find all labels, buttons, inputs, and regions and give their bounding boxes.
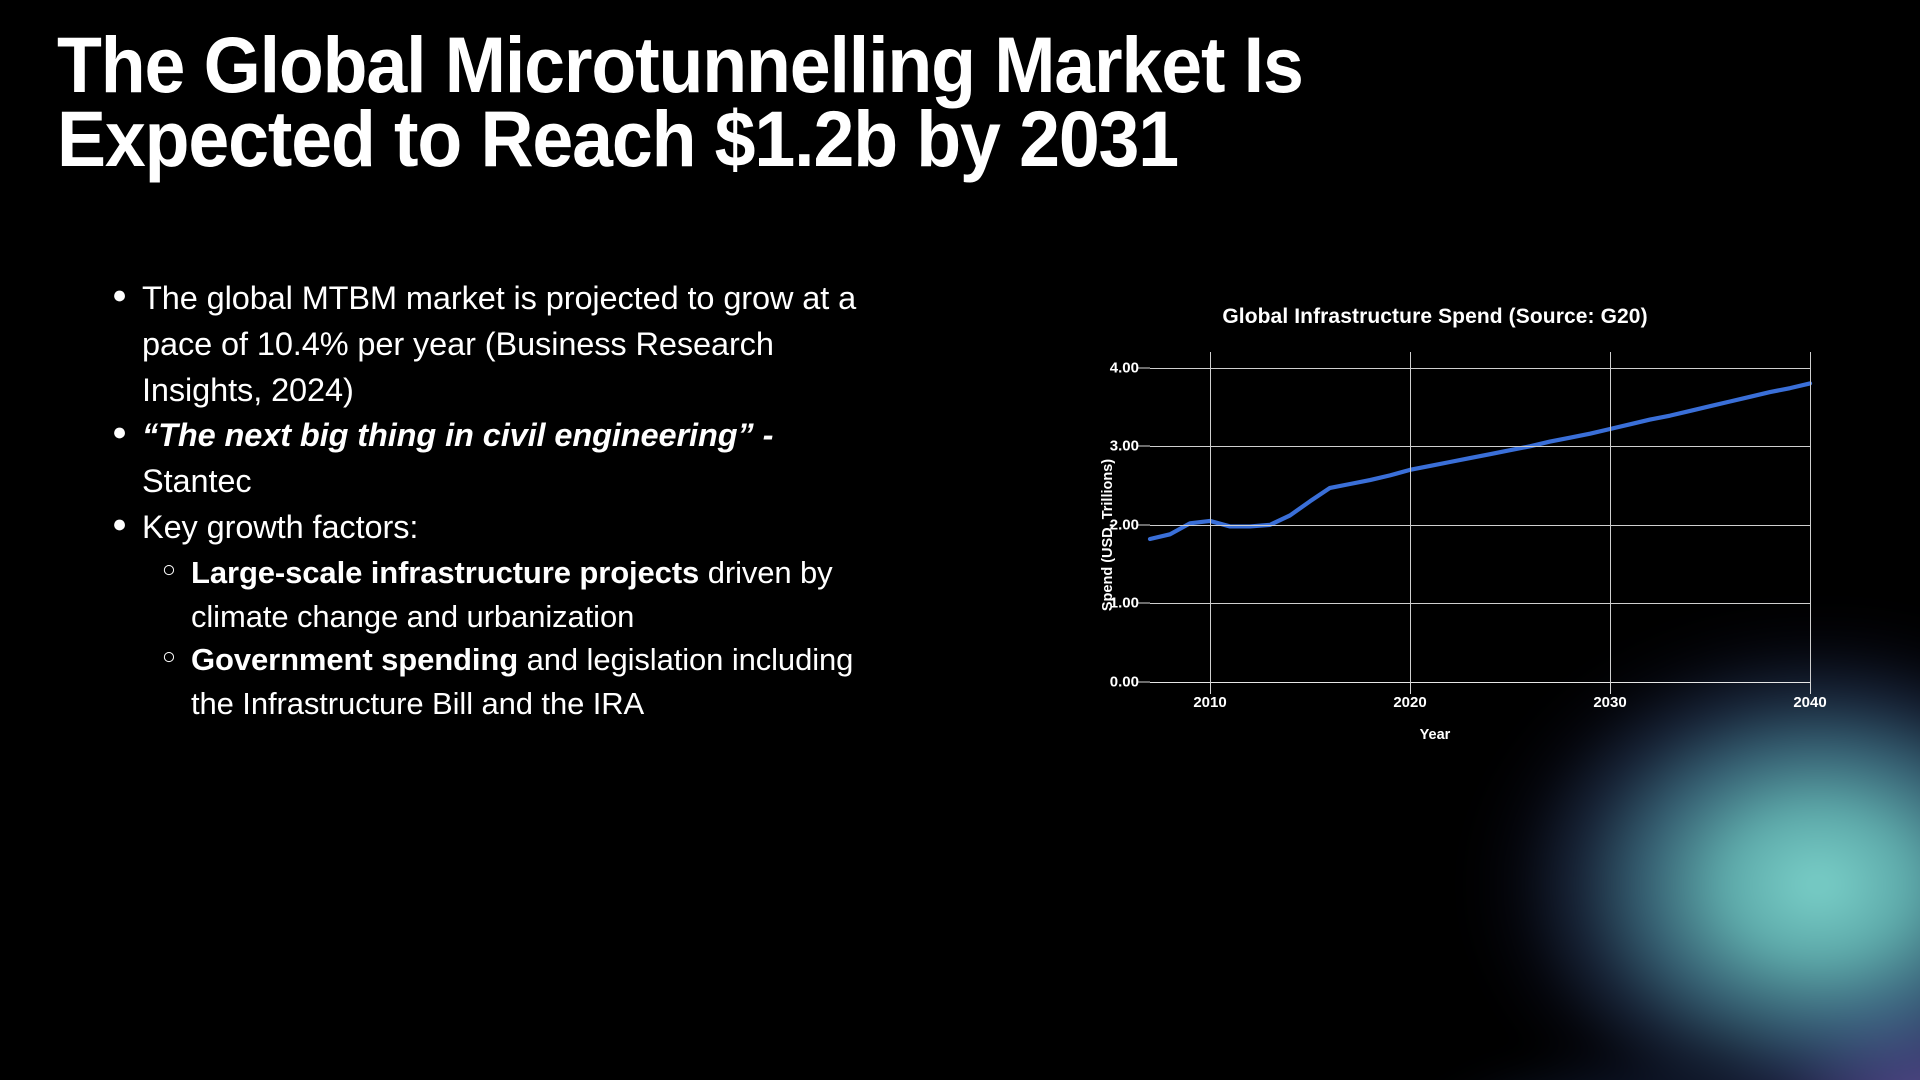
chart-plot-area: 0.001.002.003.004.002010202020302040: [1150, 352, 1810, 682]
chart-x-tick-label: 2030: [1593, 694, 1626, 711]
list-item-text: Key growth factors:: [142, 505, 882, 551]
list-item: ● The global MTBM market is projected to…: [112, 276, 882, 413]
chart-x-tick-label: 2010: [1193, 694, 1226, 711]
chart-gridline-vertical: [1610, 352, 1611, 682]
chart-gridline-horizontal: [1150, 525, 1810, 526]
sub-bullet-marker-icon: ○: [162, 638, 191, 675]
sub-list-item-lead: Large-scale infrastructure projects: [191, 555, 699, 590]
chart-x-axis-label: Year: [1055, 727, 1815, 743]
chart-x-tick-label: 2020: [1393, 694, 1426, 711]
infrastructure-spend-chart: Global Infrastructure Spend (Source: G20…: [1055, 295, 1885, 775]
sub-list-item-lead: Government spending: [191, 642, 518, 677]
chart-x-tick-mark: [1810, 682, 1811, 694]
chart-y-tick-label: 4.00: [1110, 359, 1150, 376]
chart-gridline-vertical: [1810, 352, 1811, 682]
chart-x-tick-mark: [1610, 682, 1611, 694]
list-item: ● Key growth factors:: [112, 505, 882, 551]
chart-y-tick-label: 0.00: [1110, 674, 1150, 691]
bullet-marker-icon: ●: [112, 413, 142, 452]
bullet-marker-icon: ●: [112, 505, 142, 544]
chart-x-tick-mark: [1410, 682, 1411, 694]
list-item-text: “The next big thing in civil engineering…: [142, 413, 882, 505]
chart-x-tick-mark: [1210, 682, 1211, 694]
list-item: ● “The next big thing in civil engineeri…: [112, 413, 882, 505]
sub-list-item: ○ Large-scale infrastructure projects dr…: [112, 551, 882, 638]
chart-y-tick-label: 3.00: [1110, 438, 1150, 455]
chart-gridline-horizontal: [1150, 368, 1810, 369]
chart-y-tick-label: 1.00: [1110, 595, 1150, 612]
chart-y-tick-label: 2.00: [1110, 516, 1150, 533]
chart-title: Global Infrastructure Spend (Source: G20…: [1055, 305, 1815, 329]
bullet-marker-icon: ●: [112, 276, 142, 315]
presentation-slide: The Global Microtunnelling Market Is Exp…: [0, 0, 1920, 1080]
chart-x-tick-label: 2040: [1793, 694, 1826, 711]
list-item-text: The global MTBM market is projected to g…: [142, 276, 882, 413]
sub-list-item: ○ Government spending and legislation in…: [112, 638, 882, 725]
chart-gridline-horizontal: [1150, 446, 1810, 447]
chart-axis-x: [1150, 682, 1810, 683]
page-title: The Global Microtunnelling Market Is Exp…: [57, 28, 1452, 177]
quote-attribution: Stantec: [142, 463, 252, 499]
quote-text: “The next big thing in civil engineering…: [142, 417, 773, 453]
chart-gridline-vertical: [1410, 352, 1411, 682]
chart-gridline-vertical: [1210, 352, 1211, 682]
sub-bullet-marker-icon: ○: [162, 551, 191, 588]
sub-list-item-text: Large-scale infrastructure projects driv…: [191, 551, 882, 638]
sub-list-item-text: Government spending and legislation incl…: [191, 638, 882, 725]
bullet-list: ● The global MTBM market is projected to…: [112, 276, 882, 726]
chart-gridline-horizontal: [1150, 603, 1810, 604]
chart-line-path: [1150, 383, 1810, 539]
